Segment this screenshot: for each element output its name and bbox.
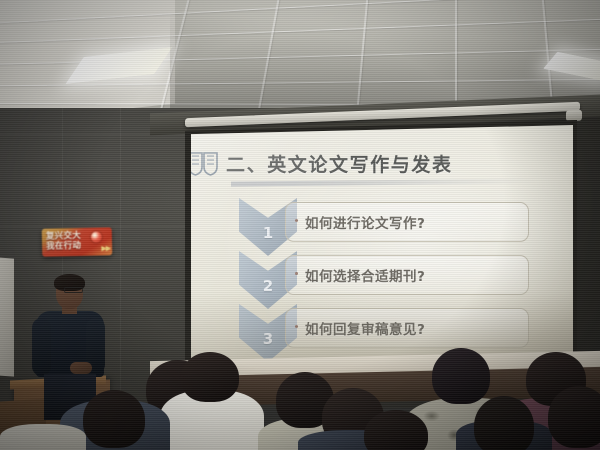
audience-head — [83, 390, 145, 448]
lecture-hall-photo: 复兴交大 我在行动 ▶▶ 二、英文论文写作与发表 1 如何进行论文写作? — [0, 0, 600, 450]
audience-head — [474, 396, 534, 450]
audience-head — [181, 352, 239, 402]
audience-torso — [0, 424, 86, 450]
audience-head — [548, 386, 600, 448]
audience: SKC — [0, 0, 600, 450]
audience-head — [432, 348, 490, 404]
